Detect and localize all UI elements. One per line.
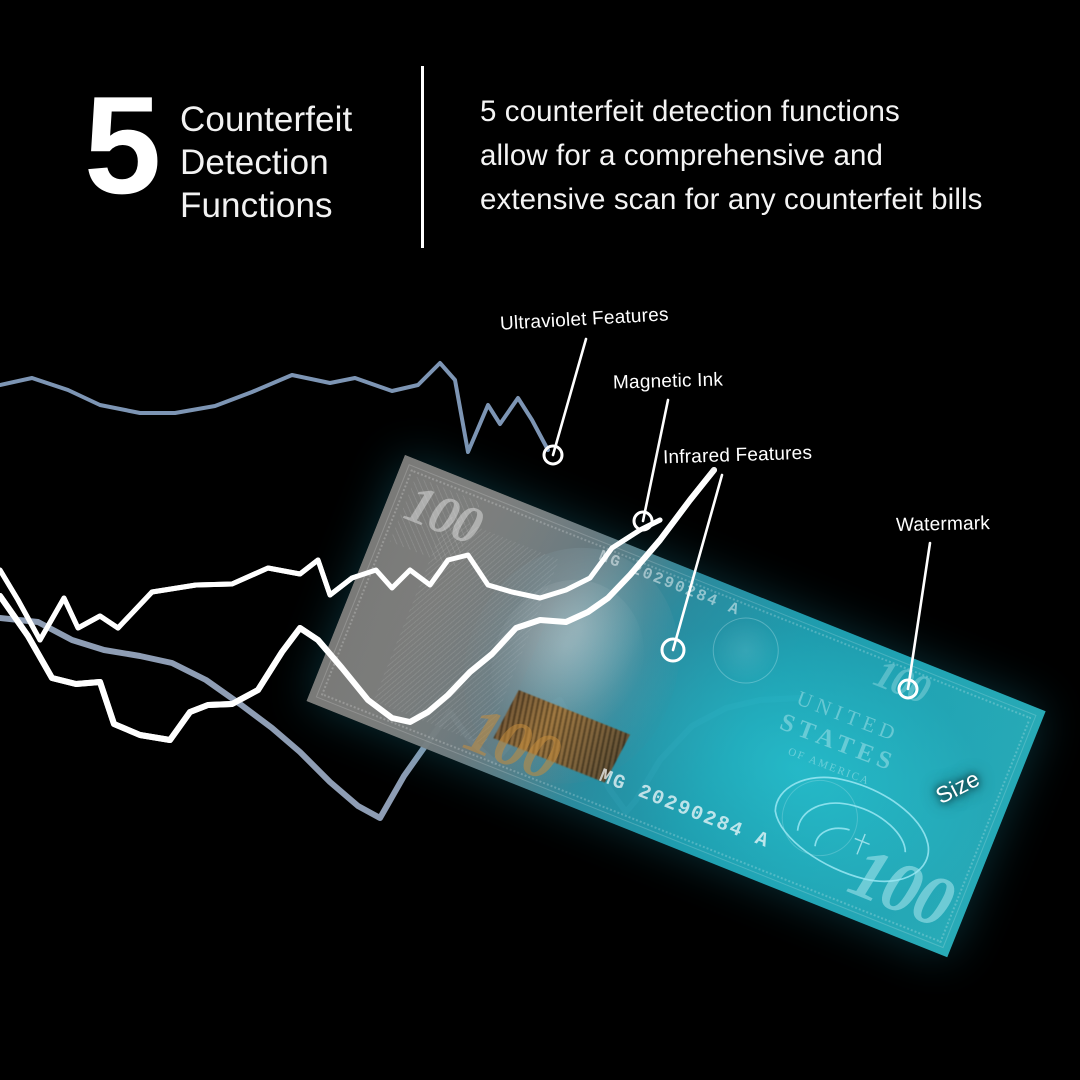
poster-canvas: 5 Counterfeit Detection Functions 5 coun…	[0, 0, 1080, 1080]
callout-leader-lines	[0, 0, 1080, 1080]
callout-label-magnetic-ink: Magnetic Ink	[613, 369, 724, 394]
callout-label-watermark: Watermark	[896, 513, 990, 537]
leader-line-watermark	[908, 543, 930, 689]
callout-label-infrared: Infrared Features	[663, 443, 813, 470]
leader-line-infrared	[673, 475, 722, 650]
leader-line-ultraviolet	[553, 339, 586, 455]
